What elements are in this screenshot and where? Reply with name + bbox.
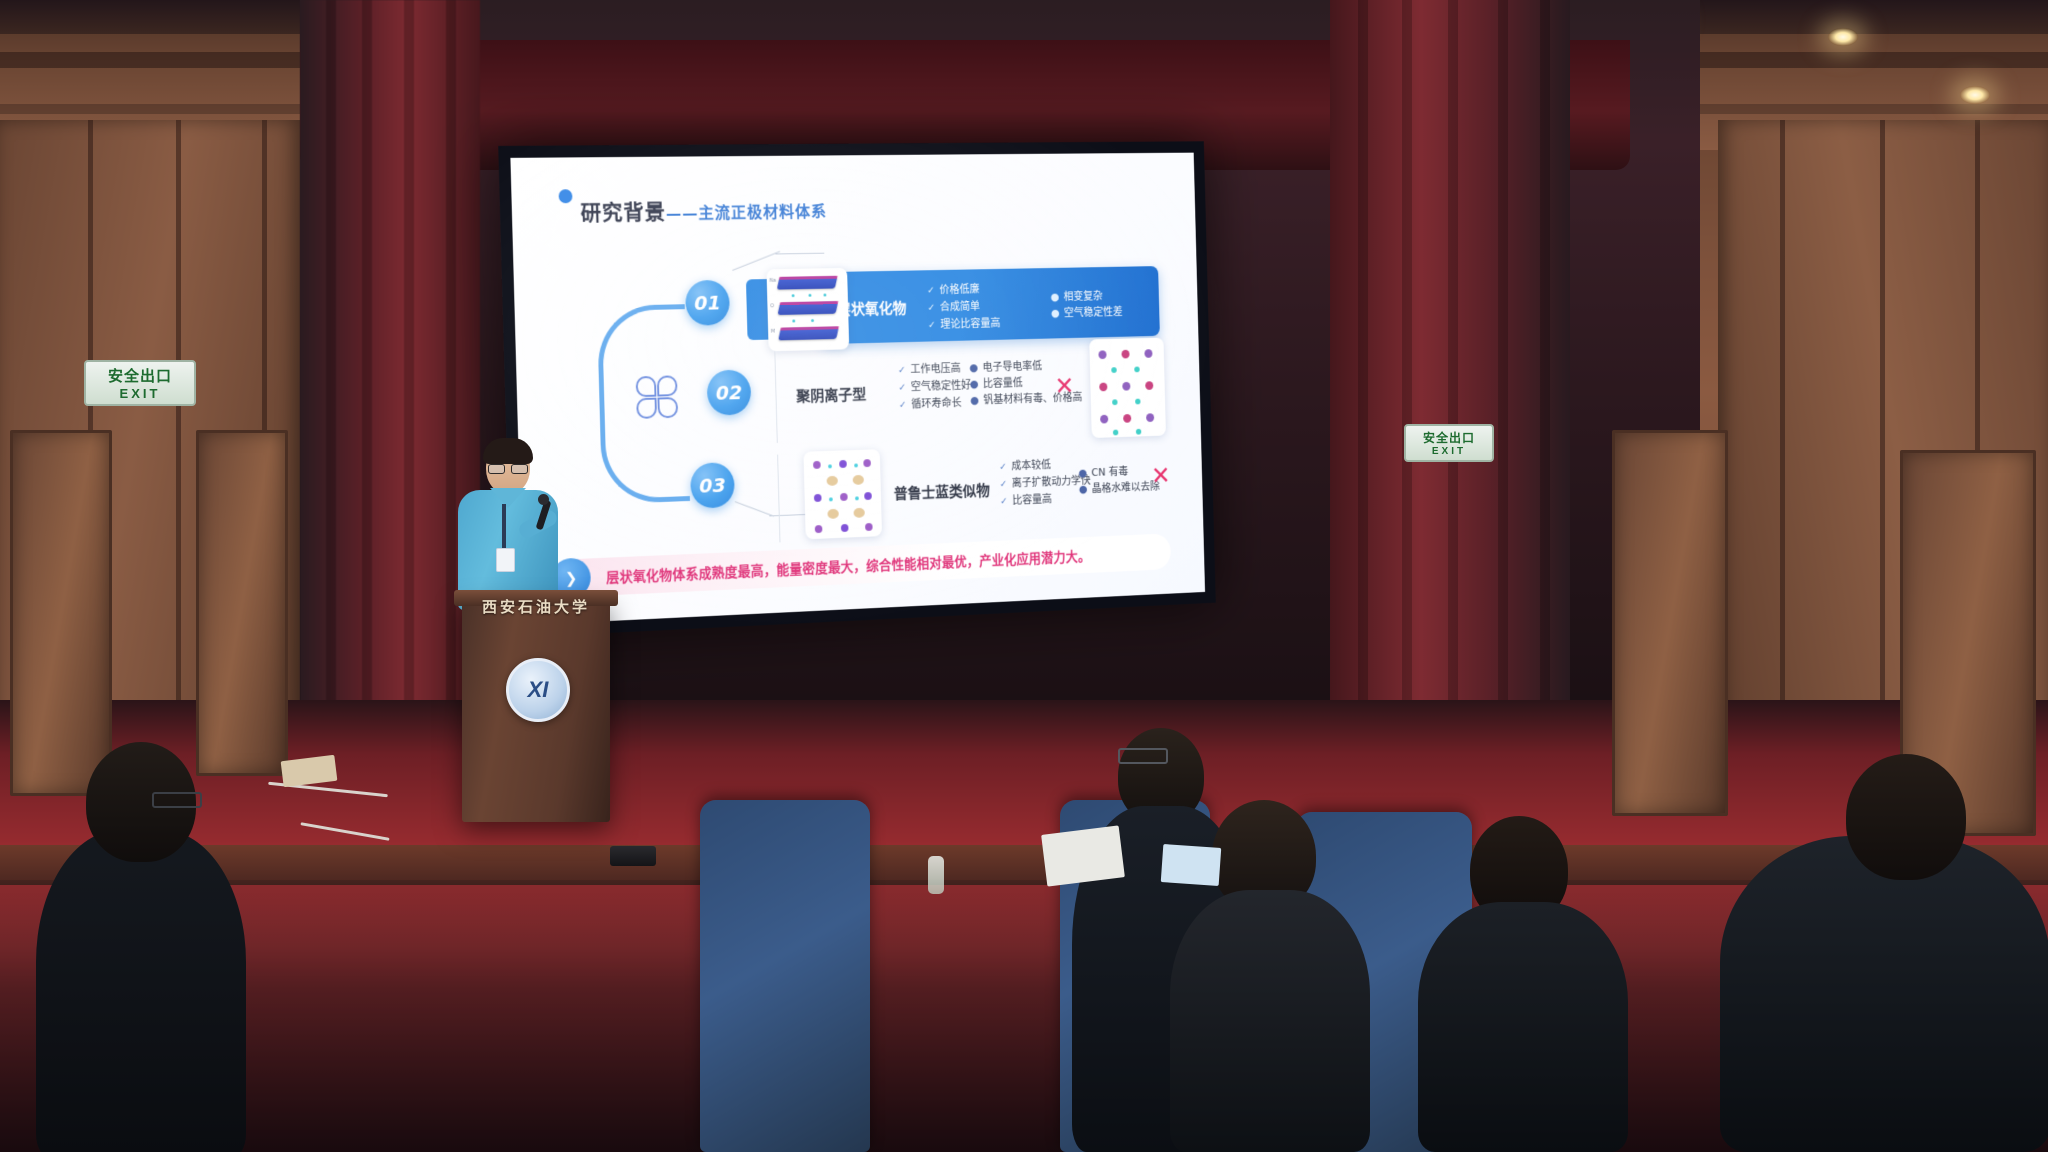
title-bullet-icon: [558, 189, 572, 203]
screen-surface: 研究背景——主流正极材料体系 01 层状氧化物: [510, 153, 1205, 626]
speaker-hair: [483, 438, 533, 464]
clover-icon: [636, 375, 678, 418]
exit-sign-left-en: EXIT: [120, 386, 161, 401]
pro-item: 合成简单: [940, 300, 980, 313]
connector-line: [732, 251, 780, 271]
row-number-badge-01: 01: [685, 280, 730, 326]
door-left-2: [196, 430, 288, 776]
structure-thumbnail-02: [1089, 338, 1166, 438]
exit-sign-right-en: EXIT: [1432, 446, 1466, 457]
glasses-icon: [488, 464, 528, 473]
audience-person: [1418, 902, 1628, 1152]
pro-item: 成本较低: [1011, 458, 1051, 472]
check-icon: ✓: [1000, 496, 1008, 507]
check-icon: ✓: [898, 383, 906, 394]
con-item: 空气稳定性差: [1064, 305, 1123, 319]
audience-chair: [700, 800, 870, 1152]
pro-item: 比容量高: [1012, 493, 1052, 507]
check-icon: ✓: [927, 286, 935, 297]
bullet-icon: ●: [1050, 291, 1059, 304]
pro-item: 循环寿命长: [911, 396, 962, 410]
structure-thumbnail-03: [803, 449, 882, 539]
id-badge: [496, 548, 515, 572]
glasses-icon: [152, 792, 202, 808]
material-name-03: 普鲁士蓝类似物: [894, 480, 991, 504]
material-name-02: 聚阴离子型: [796, 384, 867, 406]
row-divider: [774, 351, 778, 443]
pro-item: 空气稳定性好: [911, 379, 972, 393]
conclusion-text: 层状氧化物体系成熟度最高，能量密度最大，综合性能相对最优，产业化应用潜力大。: [606, 545, 1090, 586]
x-mark-icon-02: ✕: [1054, 374, 1074, 399]
audience-paper: [1161, 844, 1222, 886]
conclusion-banner: ❯ 层状氧化物体系成熟度最高，能量密度最大，综合性能相对最优，产业化应用潜力大。: [559, 533, 1171, 597]
ceiling-light: [1960, 86, 1990, 104]
stage-curtain-left: [300, 0, 480, 760]
door-left: [10, 430, 112, 796]
pros-list-03: ✓成本较低 ✓离子扩散动力学快 ✓比容量高: [999, 455, 1091, 510]
exit-sign-left-cn: 安全出口: [108, 365, 172, 386]
row-divider: [777, 455, 780, 543]
cons-list-03: ●CN 有毒 ●晶格水难以去除: [1078, 462, 1160, 497]
audience-person: [1170, 890, 1370, 1152]
bullet-icon: ●: [969, 361, 978, 374]
audience-person: [1720, 836, 2048, 1152]
floor-cable-box: [610, 846, 656, 866]
slide-title-sub: 主流正极材料体系: [698, 202, 827, 222]
connector-line: [735, 501, 774, 517]
row-01-highlight-band: 层状氧化物 ✓价格低廉 ✓合成简单 ✓理论比容量高 ●相变复杂 ●空气稳定性差: [819, 266, 1160, 344]
projection-screen: 研究背景——主流正极材料体系 01 层状氧化物: [498, 141, 1216, 637]
slide-title-dash: ——: [666, 204, 699, 223]
audience-paper: [1041, 825, 1125, 886]
podium: 西安石油大学 XI: [462, 600, 610, 822]
pros-list-02: ✓工作电压高 ✓空气稳定性好 ✓循环寿命长: [898, 360, 972, 414]
check-icon: ✓: [899, 400, 907, 411]
connector-line: [775, 253, 824, 255]
audience-person: [36, 830, 246, 1152]
check-icon: ✓: [928, 320, 936, 331]
check-icon: ✓: [927, 303, 935, 314]
bullet-icon: ●: [1078, 467, 1087, 480]
presentation-slide: 研究背景——主流正极材料体系 01 层状氧化物: [510, 153, 1205, 626]
check-icon: ✓: [999, 462, 1007, 473]
con-item: 电子导电率低: [982, 360, 1042, 374]
con-item: CN 有毒: [1091, 465, 1128, 479]
glasses-icon: [1118, 748, 1168, 764]
water-bottle: [928, 856, 944, 894]
auditorium-scene: 安全出口 EXIT 安全出口 EXIT 研究背景——主流正极材料体系: [0, 0, 2048, 1152]
structure-thumbnail-01: Na O M: [766, 268, 849, 351]
stage-apron: [0, 845, 2048, 885]
con-item: 相变复杂: [1064, 290, 1104, 303]
bullet-icon: ●: [1079, 483, 1088, 496]
university-emblem: XI: [506, 658, 570, 722]
row-number-badge-03: 03: [690, 462, 735, 509]
connector-line: [769, 514, 809, 517]
pro-item: 价格低廉: [939, 283, 979, 296]
emblem-text: XI: [528, 677, 549, 703]
slide-title-main: 研究背景: [580, 200, 666, 225]
microphone-head: [538, 494, 549, 505]
podium-institution-label: 西安石油大学: [468, 596, 604, 617]
exit-sign-right: 安全出口 EXIT: [1404, 424, 1494, 462]
row-number-badge-02: 02: [707, 369, 752, 415]
check-icon: ✓: [898, 365, 906, 376]
audience-head: [1846, 754, 1966, 880]
con-item: 晶格水难以去除: [1092, 480, 1160, 495]
bullet-icon: ●: [970, 394, 979, 407]
cons-list-01: ●相变复杂 ●空气稳定性差: [1050, 288, 1123, 322]
stage-curtain-right: [1330, 0, 1570, 740]
x-mark-icon-03: ✕: [1151, 464, 1171, 489]
pro-item: 理论比容量高: [940, 317, 1000, 331]
pros-list-01: ✓价格低廉 ✓合成简单 ✓理论比容量高: [927, 280, 1001, 333]
con-item: 比容量低: [983, 376, 1023, 390]
exit-sign-right-cn: 安全出口: [1423, 429, 1475, 446]
bullet-icon: ●: [970, 378, 979, 391]
lanyard: [502, 504, 506, 550]
ceiling-light: [1828, 28, 1858, 46]
exit-sign-left: 安全出口 EXIT: [84, 360, 196, 406]
slide-title: 研究背景——主流正极材料体系: [580, 194, 827, 227]
pro-item: 工作电压高: [910, 362, 961, 376]
bullet-icon: ●: [1051, 307, 1060, 320]
check-icon: ✓: [1000, 479, 1008, 490]
door-right: [1612, 430, 1728, 816]
